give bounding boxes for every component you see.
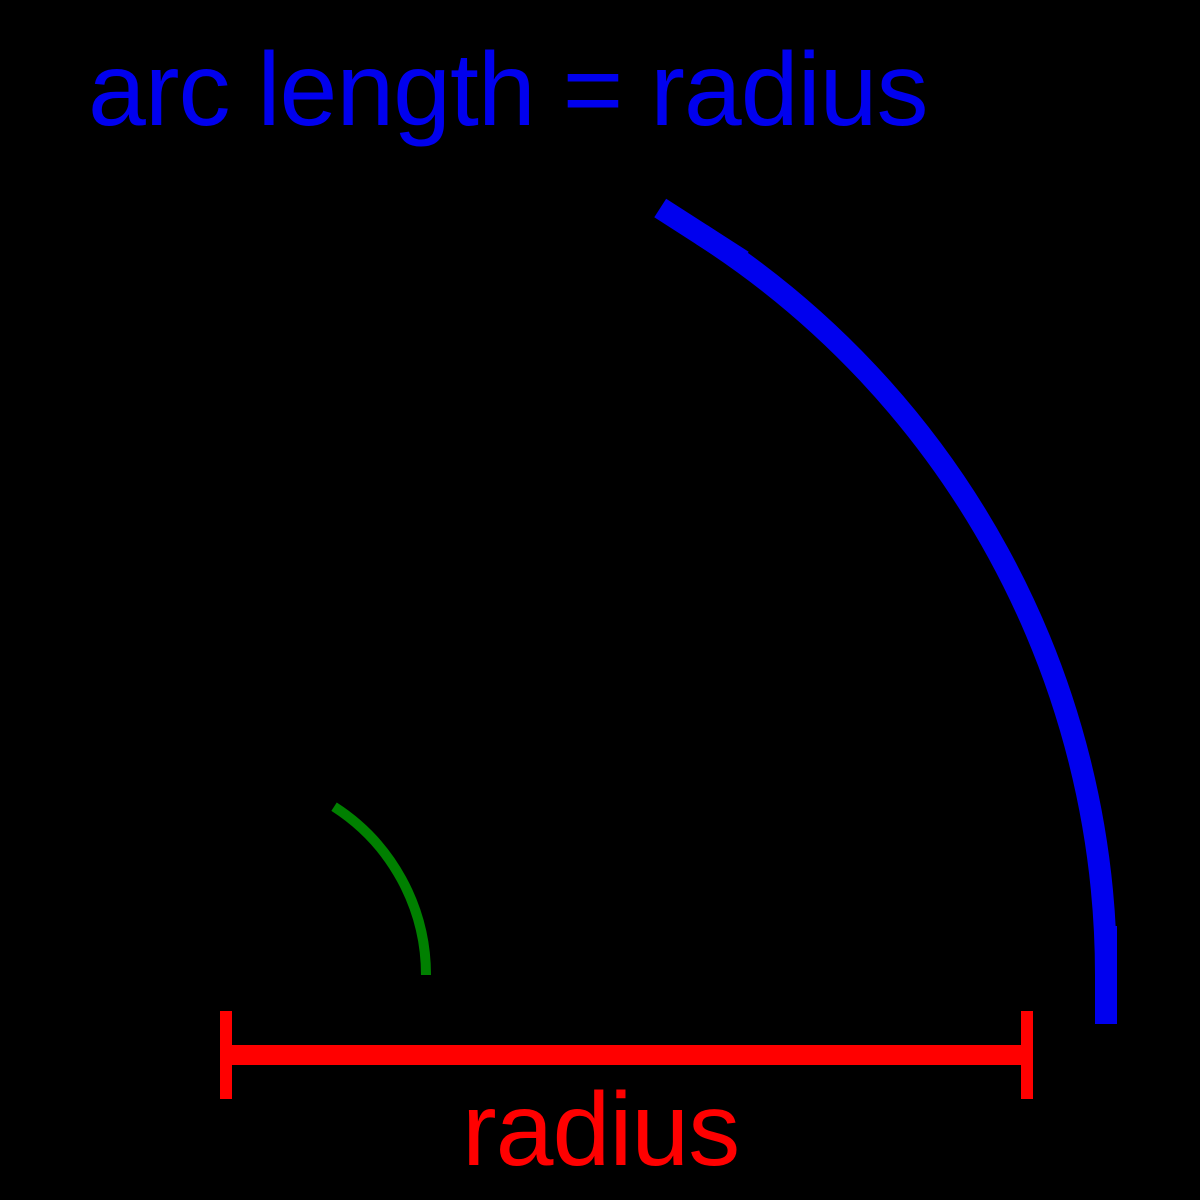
radian-diagram-svg [0,0,1200,1200]
diagram-canvas: arc length = radius radius [0,0,1200,1200]
radius-label: radius [462,1078,739,1182]
page-title: arc length = radius [88,38,928,142]
